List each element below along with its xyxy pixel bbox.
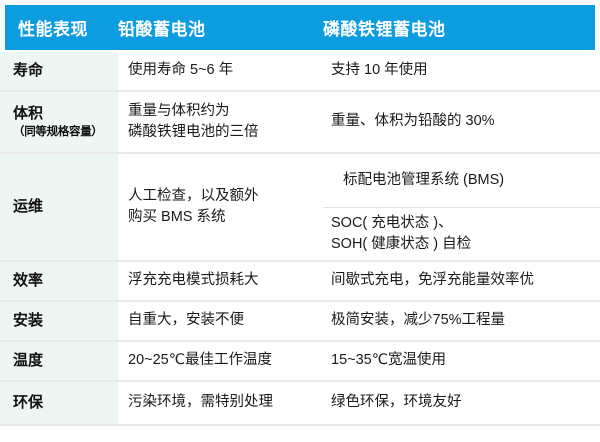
row-label-text: 运维: [13, 198, 114, 217]
table-row: 运维 人工检查，以及额外 购买 BMS 系统 标配电池管理系统 (BMS) SO…: [0, 154, 600, 262]
lifepo4-cell: 重量、体积为铅酸的 30%: [323, 92, 600, 152]
lifepo4-cell: 极简安装，减少75%工程量: [323, 302, 600, 340]
table-row: 温度 20~25℃最佳工作温度 15~35℃宽温使用: [0, 342, 600, 382]
table-row: 安装 自重大，安装不便 极简安装，减少75%工程量: [0, 302, 600, 342]
row-label-text: 效率: [13, 272, 114, 291]
lifepo4-text: 极简安装，减少75%工程量: [331, 310, 594, 331]
table-header-row: 性能表现 铅酸蓄电池 磷酸铁锂蓄电池: [5, 5, 595, 50]
table-row: 效率 浮充充电模式损耗大 间歇式充电，免浮充能量效率优: [0, 262, 600, 302]
row-label-sublabel: （同等规格容量）: [13, 125, 114, 139]
lifepo4-text: 支持 10 年使用: [331, 60, 594, 81]
row-label-text: 寿命: [13, 62, 114, 81]
lifepo4-soh-text: SOH( 健康状态 ) 自检: [331, 234, 471, 255]
header-col-performance: 性能表现: [5, 15, 118, 40]
lead-acid-text-line1: 人工检查，以及额外: [128, 186, 317, 207]
lead-acid-text-line1: 重量与体积约为: [128, 101, 317, 122]
battery-comparison-table: 性能表现 铅酸蓄电池 磷酸铁锂蓄电池 寿命 使用寿命 5~6 年 支持 10 年…: [0, 0, 600, 442]
lifepo4-cell-split: 标配电池管理系统 (BMS) SOC( 充电状态 )、 SOH( 健康状态 ) …: [323, 154, 600, 260]
row-label-cell: 效率: [0, 262, 118, 300]
table-row: 寿命 使用寿命 5~6 年 支持 10 年使用: [0, 52, 600, 92]
lead-acid-text: 自重大，安装不便: [128, 310, 317, 331]
header-col-lifepo4: 磷酸铁锂蓄电池: [323, 15, 595, 40]
lifepo4-text: 重量、体积为铅酸的 30%: [331, 111, 594, 132]
row-label-cell: 寿命: [0, 52, 118, 90]
lead-acid-cell: 20~25℃最佳工作温度: [118, 342, 323, 380]
row-label-text: 安装: [13, 312, 114, 331]
lead-acid-text: 使用寿命 5~6 年: [128, 60, 317, 81]
table-body: 寿命 使用寿命 5~6 年 支持 10 年使用 体积 （同等规格容量） 重量与体…: [0, 52, 600, 442]
row-label-cell: 温度: [0, 342, 118, 380]
table-row: 体积 （同等规格容量） 重量与体积约为 磷酸铁锂电池的三倍 重量、体积为铅酸的 …: [0, 92, 600, 154]
lead-acid-text-line2: 磷酸铁锂电池的三倍: [128, 122, 317, 143]
lifepo4-cell: 绿色环保，环境友好: [323, 382, 600, 424]
lifepo4-cell: 间歇式充电，免浮充能量效率优: [323, 262, 600, 300]
lead-acid-cell: 人工检查，以及额外 购买 BMS 系统: [118, 154, 323, 260]
lead-acid-cell: 污染环境，需特别处理: [118, 382, 323, 424]
lead-acid-text-line2: 购买 BMS 系统: [128, 207, 317, 228]
lifepo4-cell: 支持 10 年使用: [323, 52, 600, 90]
lead-acid-text: 20~25℃最佳工作温度: [128, 350, 317, 371]
lifepo4-text: 15~35℃宽温使用: [331, 350, 594, 371]
lead-acid-cell: 重量与体积约为 磷酸铁锂电池的三倍: [118, 92, 323, 152]
row-label-text: 体积: [13, 105, 114, 124]
lead-acid-cell: 浮充充电模式损耗大: [118, 262, 323, 300]
row-label-text: 环保: [13, 394, 114, 413]
row-label-text: 温度: [13, 352, 114, 371]
lifepo4-soc-soh-group: SOC( 充电状态 )、 SOH( 健康状态 ) 自检: [323, 208, 600, 261]
header-col-lead-acid: 铅酸蓄电池: [118, 15, 323, 40]
lead-acid-cell: 使用寿命 5~6 年: [118, 52, 323, 90]
lead-acid-text: 污染环境，需特别处理: [128, 392, 317, 413]
lead-acid-text: 浮充充电模式损耗大: [128, 270, 317, 291]
table-row: 环保 污染环境，需特别处理 绿色环保，环境友好: [0, 382, 600, 426]
lifepo4-bms-text: 标配电池管理系统 (BMS): [323, 154, 600, 208]
lifepo4-soc-soh-lines: SOC( 充电状态 )、 SOH( 健康状态 ) 自检: [331, 213, 471, 255]
row-label-cell: 安装: [0, 302, 118, 340]
lifepo4-cell: 15~35℃宽温使用: [323, 342, 600, 380]
lead-acid-cell: 自重大，安装不便: [118, 302, 323, 340]
row-label-cell: 体积 （同等规格容量）: [0, 92, 118, 152]
row-label-cell: 环保: [0, 382, 118, 424]
row-label-cell: 运维: [0, 154, 118, 260]
lifepo4-text: 绿色环保，环境友好: [331, 392, 594, 413]
lifepo4-text: 间歇式充电，免浮充能量效率优: [331, 270, 594, 291]
lifepo4-soc-text: SOC( 充电状态 )、: [331, 213, 471, 234]
